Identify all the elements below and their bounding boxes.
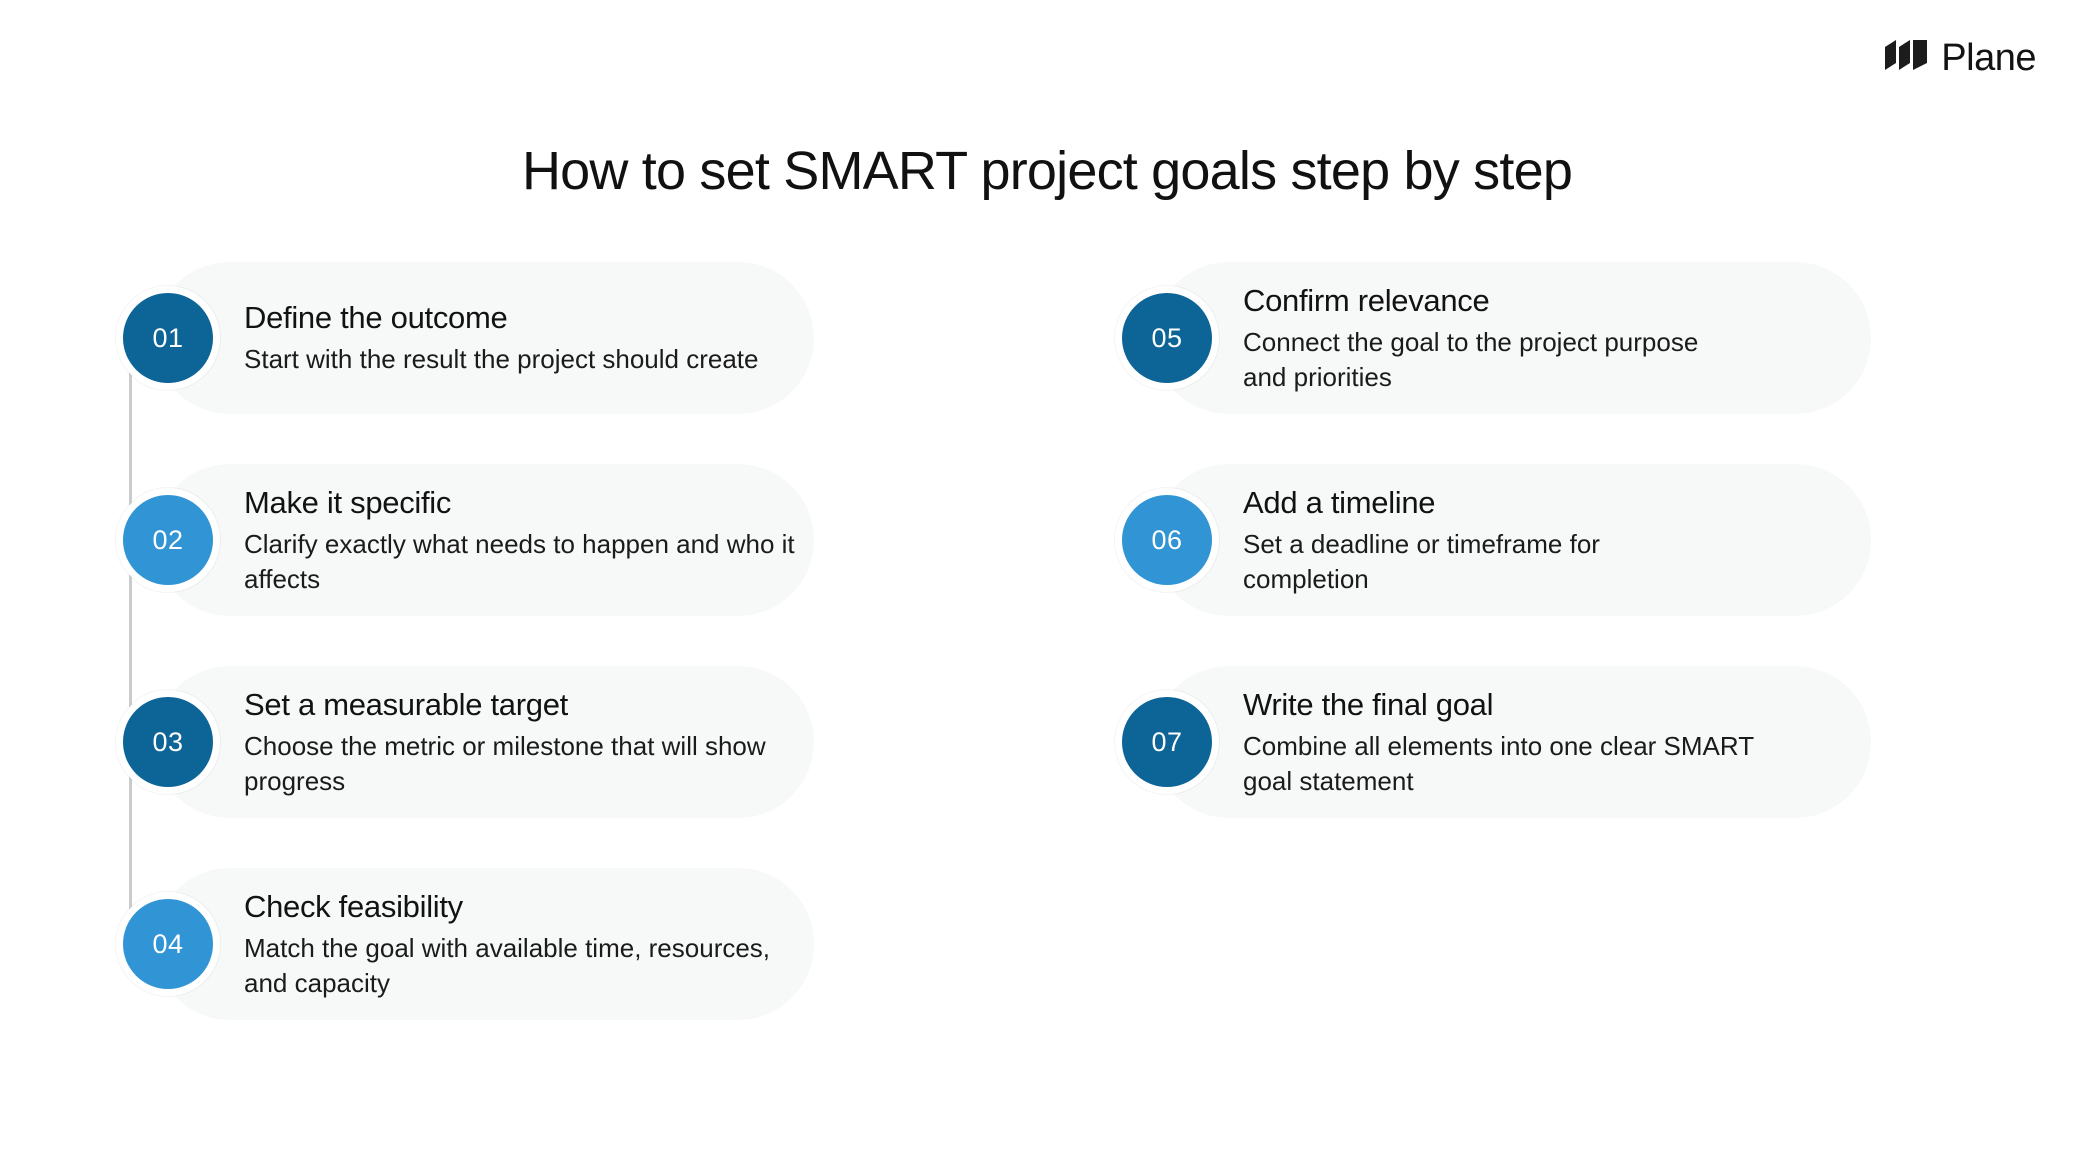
step-description: Clarify exactly what needs to happen and…: [244, 527, 804, 596]
list-item[interactable]: 02 Make it specific Clarify exactly what…: [116, 464, 1047, 616]
brand-name: Plane: [1941, 39, 2036, 77]
list-item[interactable]: 05 Confirm relevance Connect the goal to…: [1115, 262, 2094, 414]
step-number-badge: 07: [1115, 690, 1219, 794]
step-heading: Confirm relevance: [1243, 282, 1713, 319]
step-number-badge: 02: [116, 488, 220, 592]
step-heading: Check feasibility: [244, 888, 804, 925]
step-description: Connect the goal to the project purpose …: [1243, 325, 1713, 394]
page-title: How to set SMART project goals step by s…: [0, 140, 2094, 202]
step-heading: Set a measurable target: [244, 686, 804, 723]
step-heading: Make it specific: [244, 484, 804, 521]
list-item[interactable]: 07 Write the final goal Combine all elem…: [1115, 666, 2094, 818]
steps-container: 01 Define the outcome Start with the res…: [0, 262, 2094, 1070]
right-column: 05 Confirm relevance Connect the goal to…: [1047, 262, 2094, 1070]
list-item[interactable]: 01 Define the outcome Start with the res…: [116, 262, 1047, 414]
list-item[interactable]: 06 Add a timeline Set a deadline or time…: [1115, 464, 2094, 616]
step-number: 06: [1151, 525, 1182, 556]
step-number: 03: [152, 727, 183, 758]
plane-logo-icon: [1883, 38, 1929, 77]
step-text: Check feasibility Match the goal with av…: [244, 888, 804, 1000]
step-heading: Add a timeline: [1243, 484, 1713, 521]
step-description: Choose the metric or milestone that will…: [244, 729, 804, 798]
step-number: 01: [152, 323, 183, 354]
brand-logo: Plane: [1883, 38, 2036, 77]
step-number-badge: 06: [1115, 488, 1219, 592]
step-text: Make it specific Clarify exactly what ne…: [244, 484, 804, 596]
left-column: 01 Define the outcome Start with the res…: [0, 262, 1047, 1070]
step-number-badge: 05: [1115, 286, 1219, 390]
step-heading: Define the outcome: [244, 299, 759, 336]
step-description: Set a deadline or timeframe for completi…: [1243, 527, 1713, 596]
step-text: Define the outcome Start with the result…: [244, 299, 759, 377]
step-text: Add a timeline Set a deadline or timefra…: [1243, 484, 1713, 596]
step-heading: Write the final goal: [1243, 686, 1773, 723]
list-item[interactable]: 03 Set a measurable target Choose the me…: [116, 666, 1047, 818]
step-number-badge: 04: [116, 892, 220, 996]
left-steps-list: 01 Define the outcome Start with the res…: [116, 262, 1047, 1020]
step-description: Start with the result the project should…: [244, 342, 759, 376]
step-number-badge: 01: [116, 286, 220, 390]
step-number: 05: [1151, 323, 1182, 354]
step-number: 04: [152, 929, 183, 960]
step-number: 07: [1151, 727, 1182, 758]
step-number: 02: [152, 525, 183, 556]
list-item[interactable]: 04 Check feasibility Match the goal with…: [116, 868, 1047, 1020]
step-number-badge: 03: [116, 690, 220, 794]
right-steps-list: 05 Confirm relevance Connect the goal to…: [1115, 262, 2094, 818]
step-description: Match the goal with available time, reso…: [244, 931, 804, 1000]
step-description: Combine all elements into one clear SMAR…: [1243, 729, 1773, 798]
step-text: Write the final goal Combine all element…: [1243, 686, 1773, 798]
step-text: Confirm relevance Connect the goal to th…: [1243, 282, 1713, 394]
step-text: Set a measurable target Choose the metri…: [244, 686, 804, 798]
